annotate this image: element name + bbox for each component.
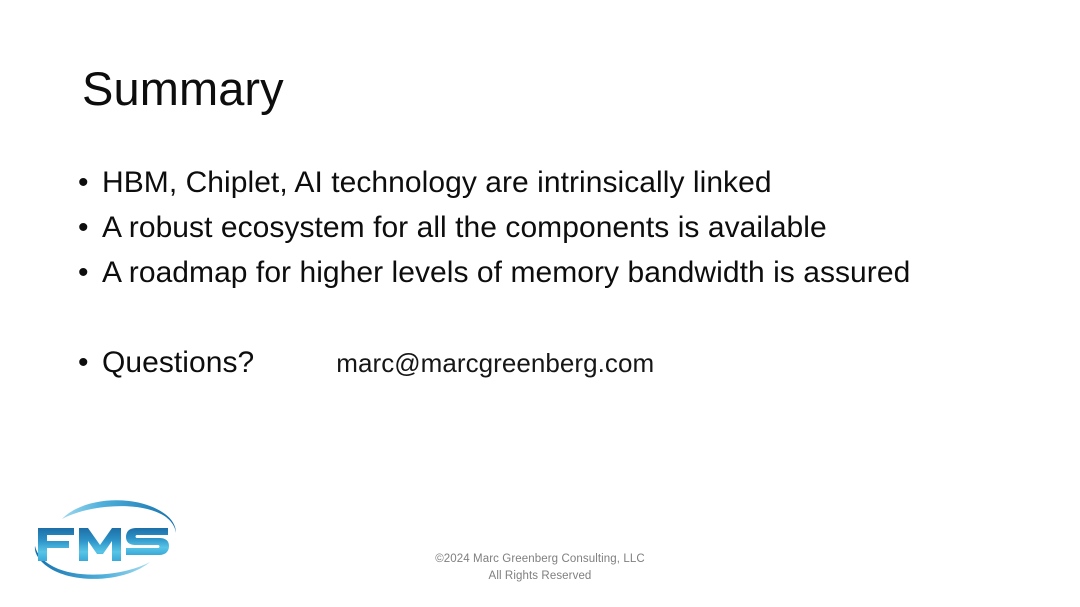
list-spacer: [78, 295, 1008, 340]
questions-item: • Questions? marc@marcgreenberg.com: [78, 340, 1008, 386]
list-item-label: A robust ecosystem for all the component…: [102, 205, 827, 250]
bullet-list: • HBM, Chiplet, AI technology are intrin…: [78, 160, 1008, 386]
bullet-point-icon: •: [78, 250, 102, 295]
list-item: • A robust ecosystem for all the compone…: [78, 205, 1008, 250]
logo-wordmark: [38, 528, 169, 561]
bullet-point-icon: •: [78, 340, 102, 385]
fms-logo: [26, 492, 186, 588]
list-item: • A roadmap for higher levels of memory …: [78, 250, 1008, 295]
contact-email[interactable]: marc@marcgreenberg.com: [336, 340, 654, 386]
bullet-point-icon: •: [78, 205, 102, 250]
list-item: • HBM, Chiplet, AI technology are intrin…: [78, 160, 1008, 205]
page-title: Summary: [82, 58, 284, 120]
questions-label: Questions?: [102, 340, 254, 385]
list-item-label: A roadmap for higher levels of memory ba…: [102, 250, 910, 295]
bullet-point-icon: •: [78, 160, 102, 205]
slide-canvas: Summary • HBM, Chiplet, AI technology ar…: [0, 0, 1080, 607]
list-item-label: HBM, Chiplet, AI technology are intrinsi…: [102, 160, 772, 205]
